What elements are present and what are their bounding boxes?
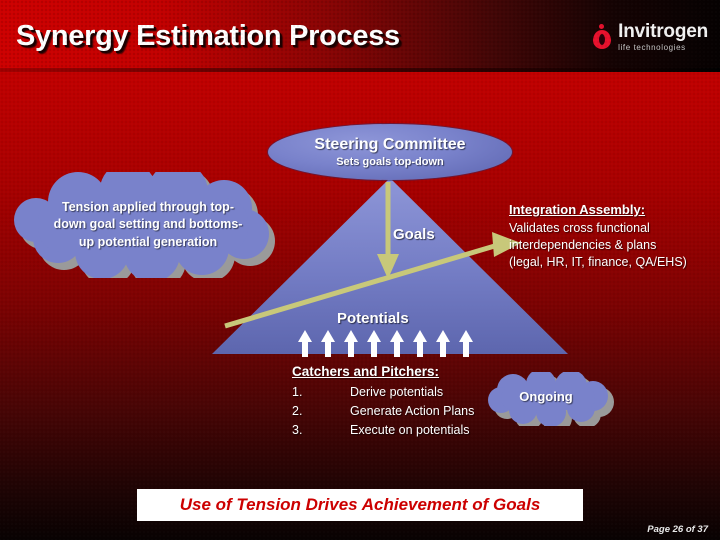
- steering-committee-title: Steering Committee: [314, 136, 465, 154]
- list-item-number: 2.: [292, 402, 350, 421]
- integration-line-1: Validates cross functional: [509, 220, 720, 237]
- goals-label: Goals: [393, 226, 435, 243]
- catchers-pitchers-list: 1. Derive potentials 2. Generate Action …: [292, 383, 474, 439]
- logo-wordmark: Invitrogen: [618, 22, 708, 41]
- ongoing-cloud-callout: Ongoing: [483, 372, 623, 426]
- catchers-pitchers-block: Catchers and Pitchers: 1. Derive potenti…: [292, 364, 474, 439]
- invitrogen-cell-icon: [592, 24, 612, 50]
- catchers-pitchers-title: Catchers and Pitchers:: [292, 364, 474, 379]
- list-item-label: Generate Action Plans: [350, 402, 474, 421]
- list-item-number: 1.: [292, 383, 350, 402]
- slide-canvas: Synergy Estimation Process Invitrogen li…: [0, 0, 720, 540]
- list-item-label: Derive potentials: [350, 383, 443, 402]
- integration-assembly-block: Integration Assembly: Validates cross fu…: [509, 202, 720, 270]
- integration-assembly-title: Integration Assembly:: [509, 202, 720, 217]
- key-message-text: Use of Tension Drives Achievement of Goa…: [180, 495, 541, 515]
- list-item: 3. Execute on potentials: [292, 421, 474, 440]
- list-item-label: Execute on potentials: [350, 421, 470, 440]
- key-message-banner: Use of Tension Drives Achievement of Goa…: [137, 489, 583, 521]
- page-title: Synergy Estimation Process: [16, 20, 400, 53]
- list-item: 1. Derive potentials: [292, 383, 474, 402]
- list-item: 2. Generate Action Plans: [292, 402, 474, 421]
- logo-tagline: life technologies: [618, 44, 708, 52]
- steering-committee-ellipse: Steering Committee Sets goals top-down: [268, 124, 512, 180]
- integration-line-2: interdependencies & plans: [509, 237, 720, 254]
- integration-assembly-body: Validates cross functional interdependen…: [509, 220, 720, 270]
- page-number: Page 26 of 37: [647, 524, 708, 535]
- logo-text-group: Invitrogen life technologies: [618, 22, 708, 52]
- tension-cloud-callout: Tension applied through top-down goal se…: [6, 172, 290, 278]
- list-item-number: 3.: [292, 421, 350, 440]
- invitrogen-logo: Invitrogen life technologies: [592, 20, 708, 54]
- potentials-label: Potentials: [337, 310, 409, 327]
- integration-line-3: (legal, HR, IT, finance, QA/EHS): [509, 254, 720, 271]
- steering-committee-subtitle: Sets goals top-down: [336, 156, 444, 168]
- slide-header: Synergy Estimation Process Invitrogen li…: [0, 0, 720, 70]
- header-divider: [0, 68, 720, 72]
